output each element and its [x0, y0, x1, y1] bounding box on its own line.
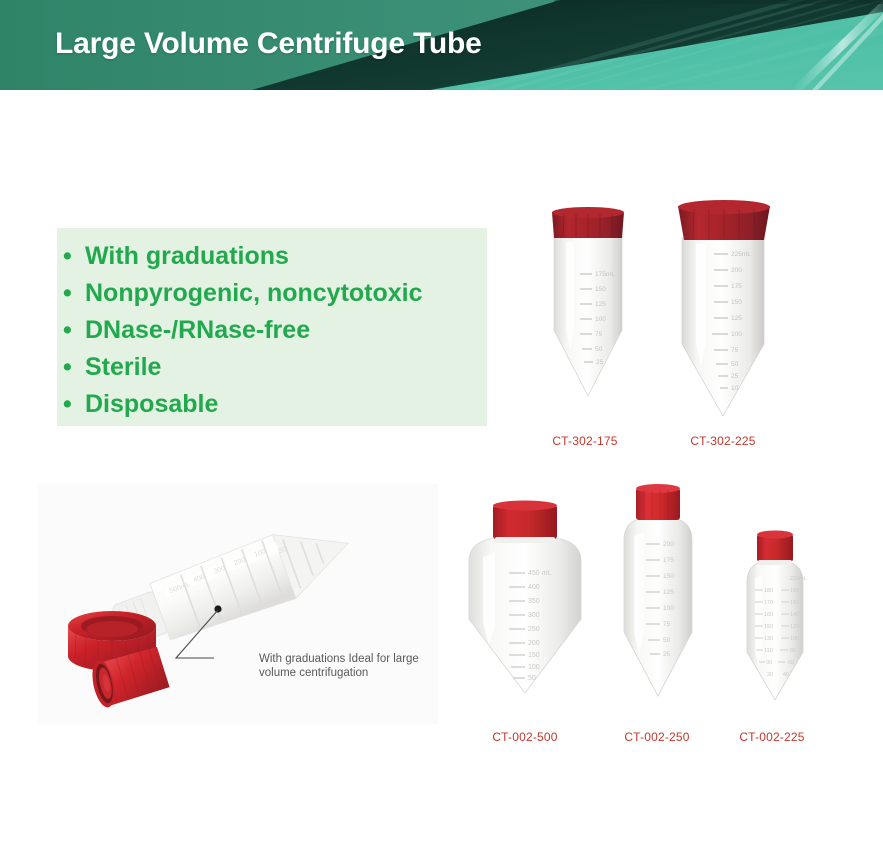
svg-text:50: 50	[663, 637, 671, 644]
svg-text:25: 25	[731, 373, 739, 380]
svg-text:50: 50	[528, 675, 536, 682]
feature-label: DNase-/RNase-free	[85, 316, 310, 344]
svg-text:40: 40	[783, 672, 789, 678]
product-label-ct-002-250: CT-002-250	[607, 730, 707, 744]
page-title: Large Volume Centrifuge Tube	[55, 27, 482, 61]
product-image-ct-002-500: 450 mL400 350300 250200 150100 50	[455, 495, 595, 720]
svg-text:80: 80	[790, 648, 796, 654]
callout-label: With graduations Ideal for large volume …	[259, 652, 439, 680]
product-label-ct-302-225: CT-302-225	[673, 434, 773, 448]
svg-text:75: 75	[731, 347, 739, 354]
feature-item: • DNase-/RNase-free	[57, 312, 487, 349]
product-label-ct-002-500: CT-002-500	[475, 730, 575, 744]
svg-text:125: 125	[595, 301, 606, 308]
svg-text:225mL: 225mL	[731, 251, 751, 258]
svg-text:100: 100	[790, 636, 799, 642]
feature-label: Disposable	[85, 390, 218, 418]
feature-label: With graduations	[85, 242, 289, 270]
svg-text:50: 50	[731, 361, 739, 368]
feature-label: Nonpyrogenic, noncytotoxic	[85, 279, 423, 307]
bullet-icon: •	[63, 238, 72, 275]
svg-text:60: 60	[788, 660, 794, 666]
svg-text:75: 75	[663, 621, 671, 628]
svg-text:30: 30	[767, 672, 773, 678]
page-banner: Large Volume Centrifuge Tube	[0, 0, 883, 90]
svg-text:25: 25	[663, 651, 671, 658]
product-image-ct-002-250: 200175 150125 10075 5025	[608, 482, 708, 722]
feature-item: • Sterile	[57, 349, 487, 386]
hero-panel: 500mL400 300200 10050	[38, 484, 438, 724]
feature-label: Sterile	[85, 353, 161, 381]
product-label-ct-002-225: CT-002-225	[722, 730, 822, 744]
svg-text:150: 150	[663, 573, 674, 580]
svg-text:350: 350	[528, 598, 540, 605]
features-panel: • With graduations • Nonpyrogenic, noncy…	[57, 228, 487, 426]
svg-text:150: 150	[595, 286, 606, 293]
bullet-icon: •	[63, 312, 72, 349]
svg-text:160: 160	[764, 612, 773, 618]
svg-text:450 mL: 450 mL	[528, 570, 551, 577]
bottle-graphic-225: 180170 160150 130110 220mL 160150 140120…	[733, 528, 817, 718]
svg-text:100: 100	[663, 605, 674, 612]
product-image-ct-302-225: 225mL200 175150 125100 7550 2510	[668, 196, 780, 431]
svg-text:25: 25	[596, 359, 604, 366]
svg-text:175: 175	[663, 557, 674, 564]
svg-text:100: 100	[731, 331, 742, 338]
bullet-icon: •	[63, 275, 72, 312]
product-label-ct-302-175: CT-302-175	[535, 434, 635, 448]
hero-tube-graphic: 500mL400 300200 10050	[38, 484, 438, 724]
feature-item: • Disposable	[57, 386, 487, 423]
callout-anchor-dot	[214, 605, 221, 612]
svg-text:180: 180	[764, 588, 773, 594]
svg-text:150: 150	[790, 600, 799, 606]
svg-text:120: 120	[790, 624, 799, 630]
svg-text:110: 110	[764, 648, 773, 654]
tube-graphic-225: 225mL200 175150 125100 7550 2510	[668, 196, 780, 426]
svg-text:130: 130	[764, 636, 773, 642]
svg-text:150: 150	[528, 652, 540, 659]
svg-text:125: 125	[731, 315, 742, 322]
svg-text:10: 10	[731, 385, 739, 392]
svg-text:250: 250	[528, 626, 540, 633]
svg-text:170: 170	[764, 600, 773, 606]
feature-item: • With graduations	[57, 238, 487, 275]
feature-item: • Nonpyrogenic, noncytotoxic	[57, 275, 487, 312]
bullet-icon: •	[63, 386, 72, 423]
svg-text:100: 100	[528, 664, 540, 671]
features-list: • With graduations • Nonpyrogenic, noncy…	[57, 238, 487, 423]
svg-text:150: 150	[764, 624, 773, 630]
svg-text:200: 200	[731, 267, 742, 274]
svg-text:150: 150	[731, 299, 742, 306]
svg-text:200: 200	[528, 640, 540, 647]
bullet-icon: •	[63, 349, 72, 386]
svg-text:200: 200	[663, 541, 674, 548]
svg-text:140: 140	[790, 612, 799, 618]
svg-text:400: 400	[528, 584, 540, 591]
tube-graphic-175: 175mL150 125100 7550 25	[540, 200, 636, 425]
svg-text:75: 75	[595, 331, 603, 338]
product-image-ct-302-175: 175mL150 125100 7550 25	[540, 200, 636, 430]
svg-text:90: 90	[766, 660, 772, 666]
product-image-ct-002-225: 180170 160150 130110 220mL 160150 140120…	[733, 528, 817, 723]
bottle-graphic-250: 200175 150125 10075 5025	[608, 482, 708, 717]
svg-text:220mL: 220mL	[790, 576, 807, 582]
svg-text:175mL: 175mL	[595, 271, 615, 278]
bottle-graphic-500: 450 mL400 350300 250200 150100 50	[455, 495, 595, 715]
svg-text:175: 175	[731, 283, 742, 290]
svg-text:160: 160	[790, 588, 799, 594]
svg-text:300: 300	[528, 612, 540, 619]
svg-text:50: 50	[595, 346, 603, 353]
svg-text:125: 125	[663, 589, 674, 596]
svg-text:100: 100	[595, 316, 606, 323]
